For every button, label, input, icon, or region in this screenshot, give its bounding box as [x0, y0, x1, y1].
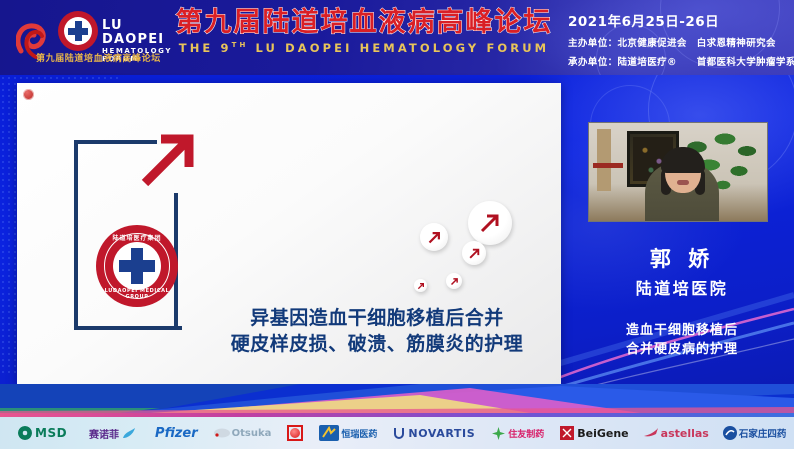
emblem-text-cn: 陆道培医疗集团: [96, 233, 178, 242]
event-title-block: 第九届陆道培血液病高峰论坛 THE 9TH LU DAOPEI HEMATOLO…: [168, 8, 560, 55]
recording-indicator-icon: [23, 89, 34, 100]
sjzsy-mark-icon: [723, 426, 737, 440]
presentation-slide[interactable]: 陆道培医疗集团 LUDAOPEI MEDICAL GROUP: [17, 83, 561, 384]
sponsor-logo-hengrui[interactable]: 恒瑞医药: [319, 420, 377, 446]
video-door-decor: [597, 129, 611, 191]
arrow-up-right-icon: [468, 247, 481, 260]
hospital-emblem-large: 陆道培医疗集团 LUDAOPEI MEDICAL GROUP: [96, 225, 178, 307]
sponsor-logo-astellas[interactable]: astellas: [643, 420, 709, 446]
event-header: LU DAOPEI HEMATOLOGY FORUM 第九届陆道培血液病高峰论坛…: [0, 0, 794, 75]
medical-cross-icon: [68, 21, 88, 41]
arrow-up-right-icon: [139, 131, 199, 189]
forum-logo: LU DAOPEI HEMATOLOGY FORUM 第九届陆道培血液病高峰论坛: [14, 7, 164, 69]
medical-cross-icon: [119, 248, 155, 284]
geometric-band-decor: [0, 384, 794, 413]
event-title-en: THE 9TH LU DAOPEI HEMATOLOGY FORUM: [168, 41, 560, 55]
brand-line-1: LU DAOPEI: [102, 19, 172, 46]
sponsor-logo-sumitomo[interactable]: 住友制药: [491, 420, 544, 446]
sponsor-logo-sanofi[interactable]: 赛诺菲: [89, 420, 137, 446]
slide-frame-bottom: [74, 326, 178, 330]
emblem-inner: [64, 17, 92, 45]
sponsor-label: NOVARTIS: [408, 427, 475, 440]
emblem-white-disc: [113, 242, 161, 290]
brand-chinese: 第九届陆道培血液病高峰论坛: [36, 51, 161, 64]
arrow-bubble: [468, 201, 512, 245]
speaker-hospital: 陆道培医院: [570, 275, 794, 299]
title-en-pre: THE 9: [179, 41, 232, 55]
broadcast-stage: LU DAOPEI HEMATOLOGY FORUM 第九届陆道培血液病高峰论坛…: [0, 0, 794, 449]
event-organizer: 主办单位：北京健康促进会 白求恩精神研究会: [568, 35, 794, 49]
arrow-bubble: [446, 273, 462, 289]
sponsor-label: BeiGene: [577, 427, 628, 440]
event-date: 2021年6月25日-26日: [568, 10, 794, 30]
speaker-topic-line-2: 合并硬皮病的护理: [570, 341, 794, 360]
sponsor-logo-beigene[interactable]: BeiGene: [560, 420, 628, 446]
sponsor-logo-msd[interactable]: MSD: [18, 420, 67, 446]
sponsor-label: Otsuka: [232, 428, 272, 439]
sanofi-mark-icon: [121, 425, 137, 441]
sponsor-logo-novartis[interactable]: NOVARTIS: [393, 420, 475, 446]
sponsor-label: MSD: [35, 426, 67, 440]
band-shapes: [0, 384, 794, 413]
arrow-bubble: [420, 223, 448, 251]
sponsor-label: 石家庄四药: [739, 426, 787, 440]
arrow-bubble: [414, 279, 427, 292]
sumitomo-mark-icon: [491, 426, 506, 441]
sponsor-label: 住友制药: [508, 427, 544, 440]
event-title-cn: 第九届陆道培血液病高峰论坛: [168, 8, 560, 38]
sponsor-logo-otsuka[interactable]: Otsuka: [214, 420, 272, 446]
red-square-mark-icon: [287, 425, 303, 441]
sponsor-logo-red-square[interactable]: [287, 420, 303, 446]
beigene-mark-icon: [560, 426, 574, 440]
speaker-video-feed[interactable]: [588, 122, 768, 222]
slide-title-line-2: 硬皮样皮损、破溃、筋膜炎的护理: [202, 331, 552, 357]
title-en-post: LU DAOPEI HEMATOLOGY FORUM: [248, 41, 549, 55]
sponsor-logo-bar: MSD 赛诺菲 Pfizer Otsuka 恒瑞医药 NOVARTIS 住友制药: [0, 413, 794, 449]
video-wall-stripe: [593, 163, 623, 168]
speaker-topic: 造血干细胞移植后 合并硬皮病的护理: [570, 322, 794, 360]
sponsor-label: 赛诺菲: [89, 426, 119, 441]
arrow-up-right-icon: [450, 277, 459, 286]
otsuka-mark-icon: [214, 427, 230, 439]
emblem-text-en: LUDAOPEI MEDICAL GROUP: [96, 288, 178, 300]
hospital-emblem-small: [58, 11, 98, 51]
event-meta: 2021年6月25日-26日 主办单位：北京健康促进会 白求恩精神研究会 承办单…: [568, 10, 794, 68]
arrow-up-right-icon: [478, 211, 502, 235]
arrow-up-right-icon: [427, 230, 442, 245]
slide-title: 异基因造血干细胞移植后合并 硬皮样皮损、破溃、筋膜炎的护理: [202, 305, 552, 357]
title-en-ordinal: TH: [232, 41, 249, 49]
sponsor-label: astellas: [661, 427, 709, 440]
sponsor-logo-sjzsy[interactable]: 石家庄四药: [723, 420, 787, 446]
speaker-mouth: [677, 180, 689, 185]
slide-title-line-1: 异基因造血干细胞移植后合并: [202, 305, 552, 331]
event-co-organizer: 承办单位：陆道培医疗® 首都医科大学肿瘤学系: [568, 54, 794, 68]
arrow-bubbles-decor: [412, 201, 561, 311]
sponsor-label: 恒瑞医药: [341, 427, 377, 440]
arrow-bubble: [462, 241, 486, 265]
speaker-name: 郭 娇: [570, 243, 794, 273]
msd-mark-icon: [18, 426, 32, 440]
speaker-topic-line-1: 造血干细胞移植后: [570, 322, 794, 341]
sponsor-logo-pfizer[interactable]: Pfizer: [155, 420, 198, 446]
hengrui-mark-icon: [319, 425, 339, 441]
arrow-up-right-icon: [417, 282, 425, 290]
sponsor-label: Pfizer: [155, 426, 198, 441]
novartis-mark-icon: [393, 426, 405, 440]
red-dot-icon: [290, 428, 300, 438]
astellas-mark-icon: [643, 427, 659, 439]
